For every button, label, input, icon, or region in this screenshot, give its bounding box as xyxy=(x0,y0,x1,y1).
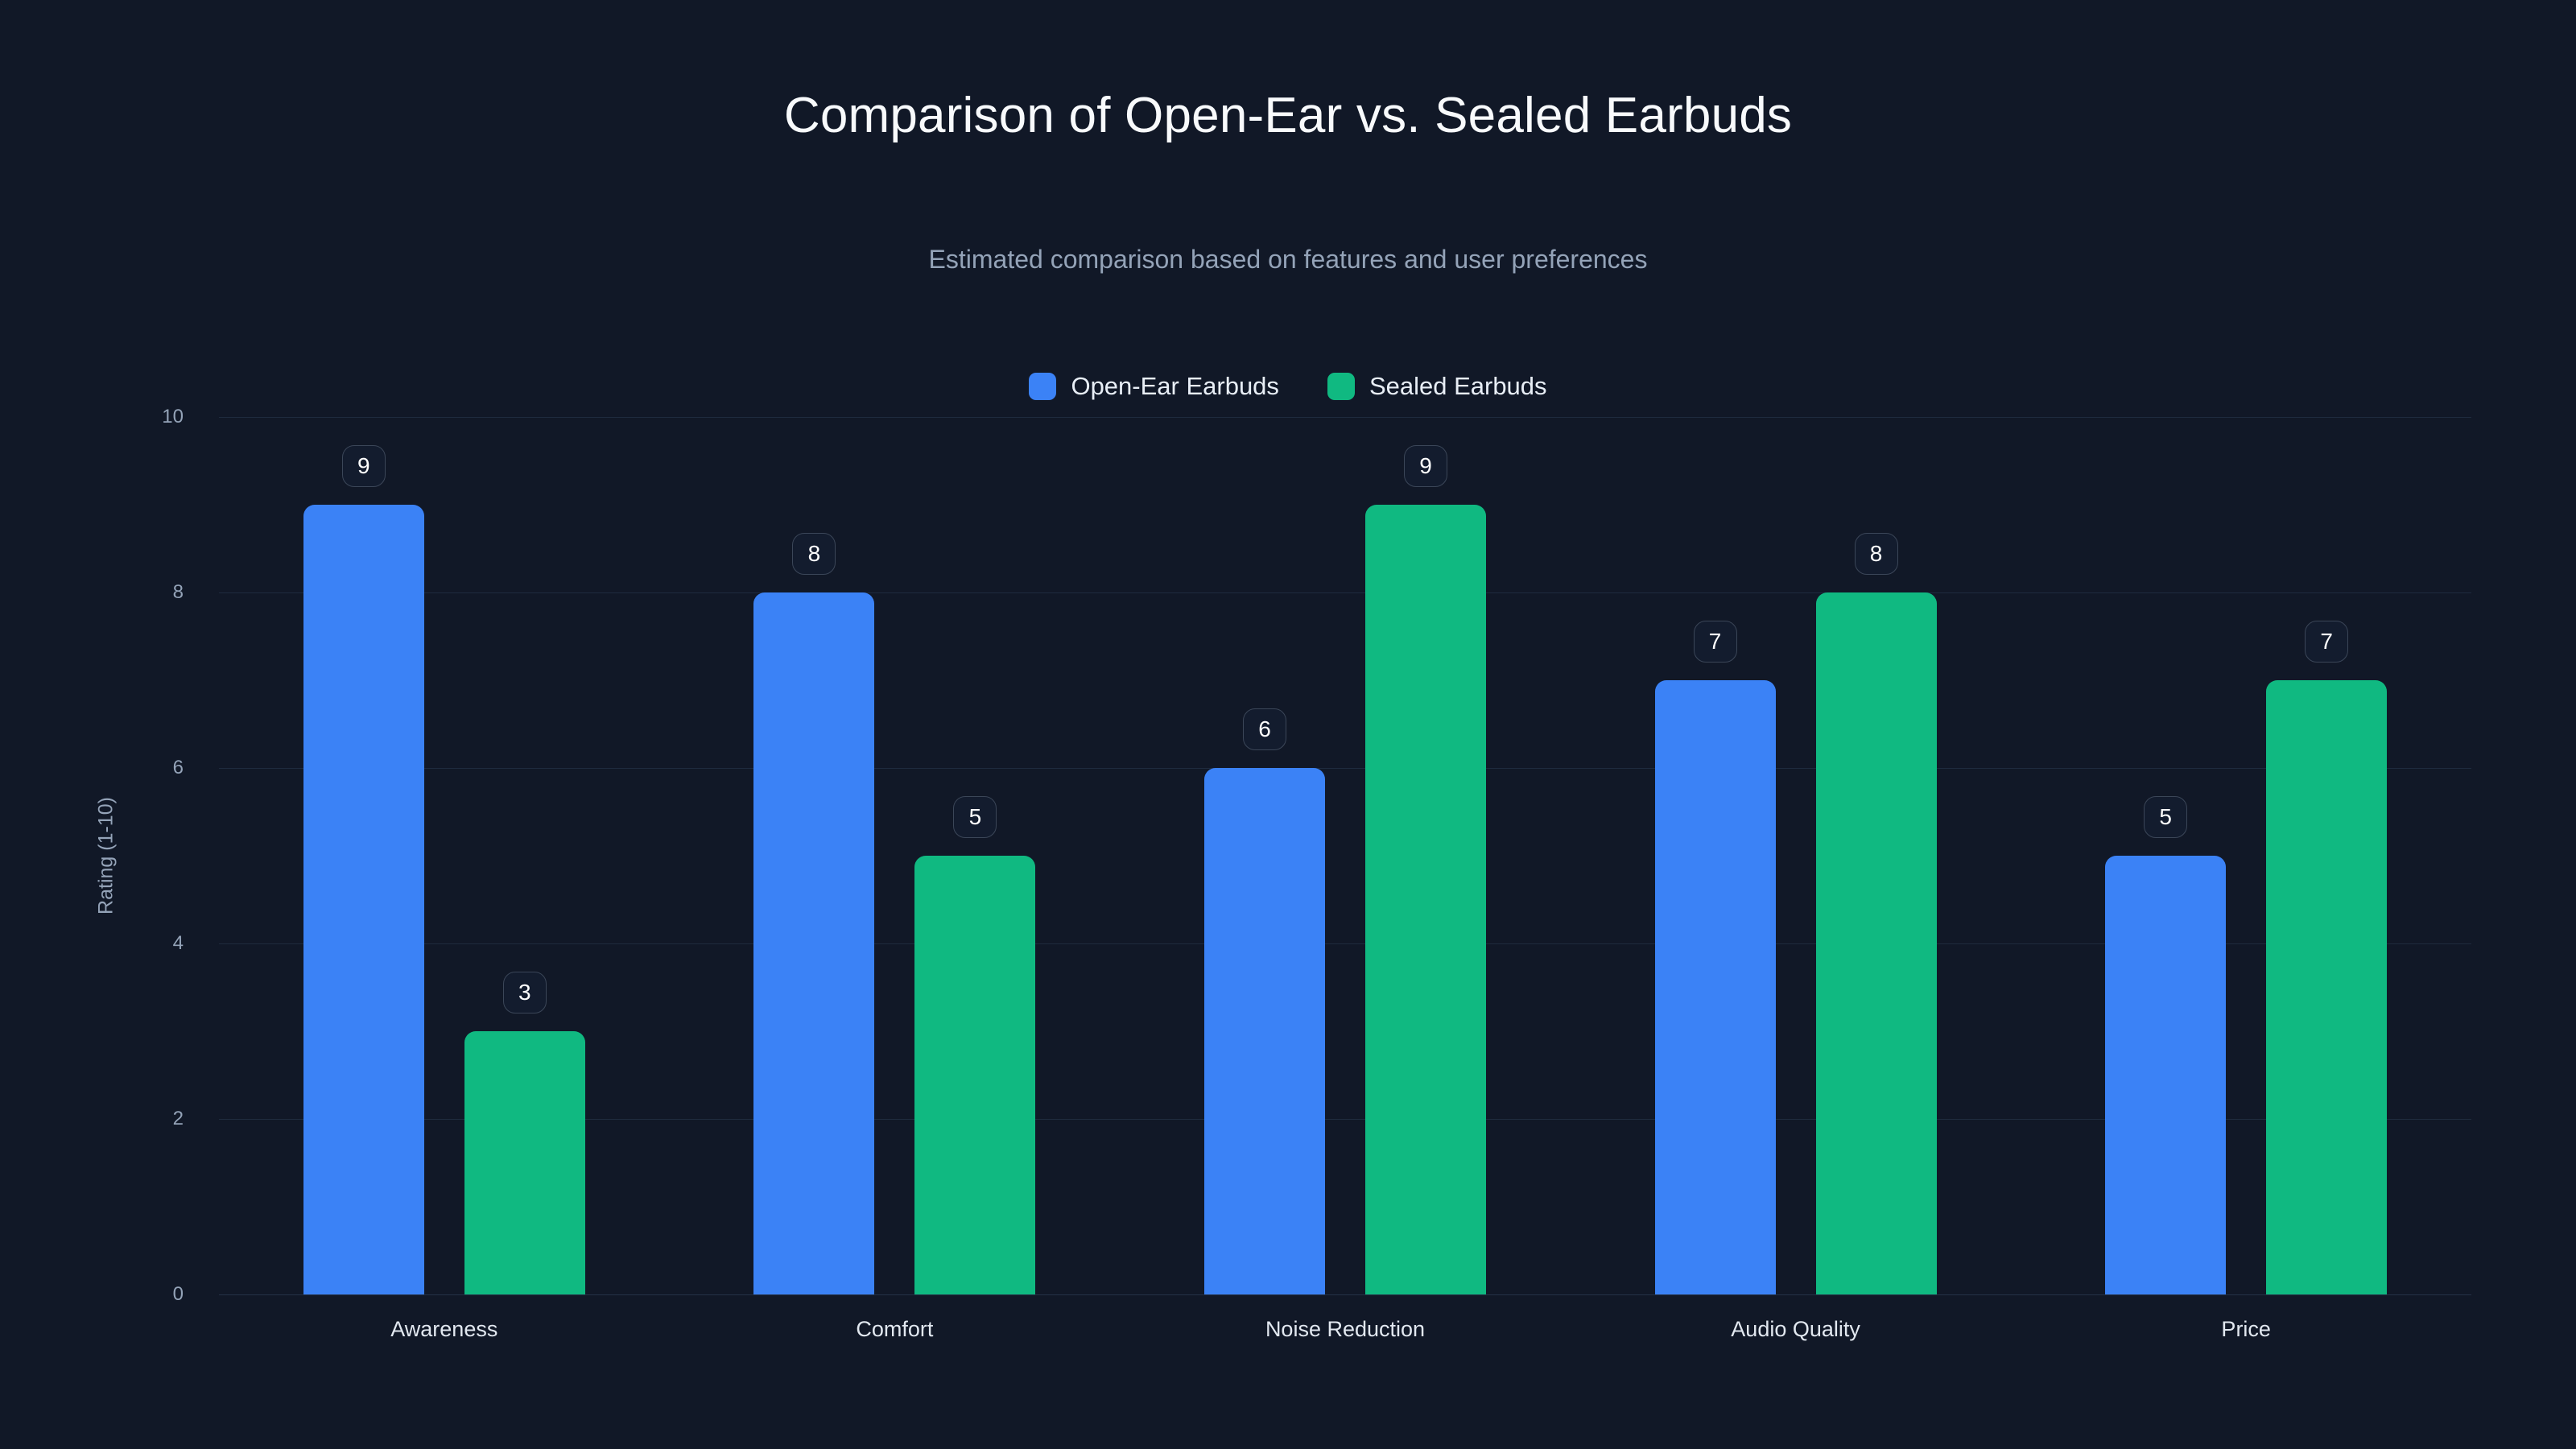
legend-swatch-icon xyxy=(1029,373,1056,400)
y-axis-tick-label: 4 xyxy=(173,932,184,955)
x-axis-category-label: Comfort xyxy=(856,1317,933,1342)
chart-legend: Open-Ear EarbudsSealed Earbuds xyxy=(0,372,2576,401)
bar[interactable] xyxy=(2266,680,2387,1294)
y-axis-title: Rating (1-10) xyxy=(95,797,118,914)
legend-item-0[interactable]: Open-Ear Earbuds xyxy=(1029,372,1278,401)
y-axis-tick-label: 2 xyxy=(173,1108,184,1130)
y-axis-tick-label: 10 xyxy=(162,406,184,428)
y-axis-tick-label: 6 xyxy=(173,757,184,779)
bar[interactable] xyxy=(2105,856,2226,1294)
gridline xyxy=(219,1294,2471,1295)
x-axis-category-label: Price xyxy=(2221,1317,2271,1342)
bar-chart: Comparison of Open-Ear vs. Sealed Earbud… xyxy=(0,0,2576,1449)
bar-value-label: 5 xyxy=(2144,796,2187,838)
chart-title: Comparison of Open-Ear vs. Sealed Earbud… xyxy=(0,89,2576,143)
x-axis-category-label: Noise Reduction xyxy=(1265,1317,1425,1342)
x-axis-category-label: Audio Quality xyxy=(1731,1317,1860,1342)
legend-item-1[interactable]: Sealed Earbuds xyxy=(1327,372,1547,401)
legend-label: Open-Ear Earbuds xyxy=(1071,372,1278,401)
y-axis-tick-label: 0 xyxy=(173,1283,184,1306)
x-axis-labels: AwarenessComfortNoise ReductionAudio Qua… xyxy=(219,1317,2471,1365)
chart-subtitle: Estimated comparison based on features a… xyxy=(0,244,2576,275)
x-axis-category-label: Awareness xyxy=(390,1317,497,1342)
plot-area: 9385697857 xyxy=(219,417,2471,1294)
bar-group: 57 xyxy=(219,417,2471,1294)
legend-label: Sealed Earbuds xyxy=(1369,372,1547,401)
y-axis-tick-label: 8 xyxy=(173,581,184,604)
legend-swatch-icon xyxy=(1327,373,1355,400)
bar-value-label: 7 xyxy=(2305,621,2348,663)
